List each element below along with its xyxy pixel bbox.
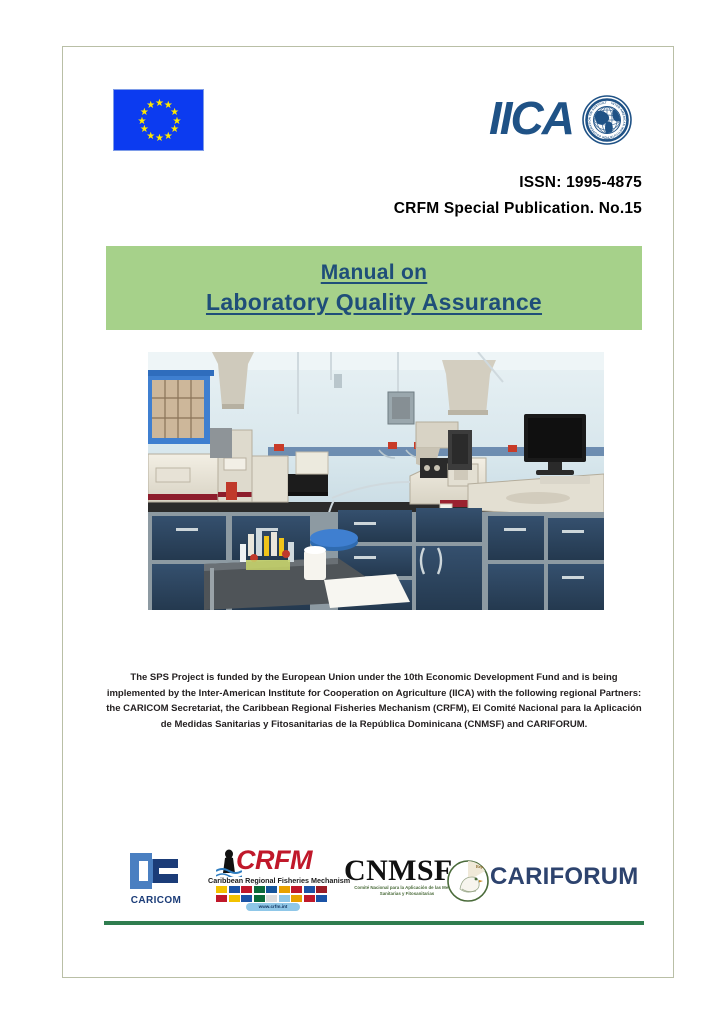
crfm-member-flag [229, 886, 240, 893]
cariforum-logo: CARIFORUM [490, 861, 640, 895]
eu-star-circle: ★★★★★★★★★★★★ [114, 90, 203, 150]
svg-text:1942: 1942 [604, 137, 611, 141]
eu-star-icon: ★ [140, 125, 149, 134]
crfm-member-flag [266, 895, 277, 902]
publication-number: CRFM Special Publication. No.15 [280, 200, 642, 218]
crfm-member-flag [229, 895, 240, 902]
european-union-flag: ★★★★★★★★★★★★ [113, 89, 204, 151]
crfm-member-flag [241, 895, 252, 902]
crfm-member-flag [316, 886, 327, 893]
crfm-fisherman-icon [216, 847, 242, 877]
cnmsf-emblem-icon: Rep. [446, 859, 490, 903]
iica-logo: IICA [489, 93, 641, 148]
crfm-member-flag [216, 886, 227, 893]
crfm-member-flag [304, 895, 315, 902]
funding-statement: The SPS Project is funded by the Europea… [104, 670, 644, 732]
caricom-wordmark: CARICOM [118, 895, 194, 906]
eu-star-icon: ★ [138, 117, 147, 126]
crfm-member-flags-row-2 [216, 895, 330, 902]
caricom-logo: CARICOM [118, 849, 194, 913]
partner-logos-row: CARICOM CRFM Caribbean Regional Fisherie… [104, 845, 644, 917]
crfm-logo: CRFM Caribbean Regional Fisheries Mechan… [208, 845, 338, 915]
eu-star-icon: ★ [155, 99, 164, 108]
crfm-member-flag [241, 886, 252, 893]
caricom-double-c-icon [128, 849, 184, 893]
cnmsf-wordmark: CNMSF [344, 855, 453, 887]
crfm-wordmark: CRFM [236, 845, 312, 875]
crfm-member-flags-row-1 [216, 886, 330, 893]
crfm-website-url: www.crfm.int [246, 903, 300, 911]
eu-star-icon: ★ [146, 101, 155, 110]
crfm-subtitle: Caribbean Regional Fisheries Mechanism [208, 876, 338, 885]
crfm-member-flag [216, 895, 227, 902]
title-banner: Manual on Laboratory Quality Assurance [106, 246, 642, 330]
crfm-member-flag [254, 886, 265, 893]
iica-globe-seal-icon: INTER-AMERICAN INSTITUTE FOR COOPERATION… [582, 95, 632, 145]
crfm-member-flag [291, 895, 302, 902]
crfm-member-flag [291, 886, 302, 893]
cnmsf-logo: CNMSF Comité Nacional para la Aplicación… [344, 855, 494, 907]
crfm-member-flag [279, 886, 290, 893]
eu-star-icon: ★ [155, 134, 164, 143]
crfm-member-flag [279, 895, 290, 902]
crfm-member-flag [316, 895, 327, 902]
eu-star-icon: ★ [164, 132, 173, 141]
svg-text:Rep.: Rep. [476, 864, 484, 869]
footer-divider [104, 921, 644, 925]
page-title-line-1: Manual on [321, 261, 428, 285]
page-title-line-2: Laboratory Quality Assurance [206, 289, 542, 316]
crfm-member-flag [254, 895, 265, 902]
iica-wordmark: IICA [489, 93, 573, 143]
crfm-member-flag [304, 886, 315, 893]
laboratory-photograph [148, 352, 604, 610]
issn-number: ISSN: 1995-4875 [280, 174, 642, 192]
document-cover-page: ★★★★★★★★★★★★ IICA [0, 0, 724, 1024]
crfm-member-flag [266, 886, 277, 893]
issn-block: ISSN: 1995-4875 CRFM Special Publication… [280, 174, 642, 218]
cariforum-wordmark: CARIFORUM [490, 861, 640, 893]
